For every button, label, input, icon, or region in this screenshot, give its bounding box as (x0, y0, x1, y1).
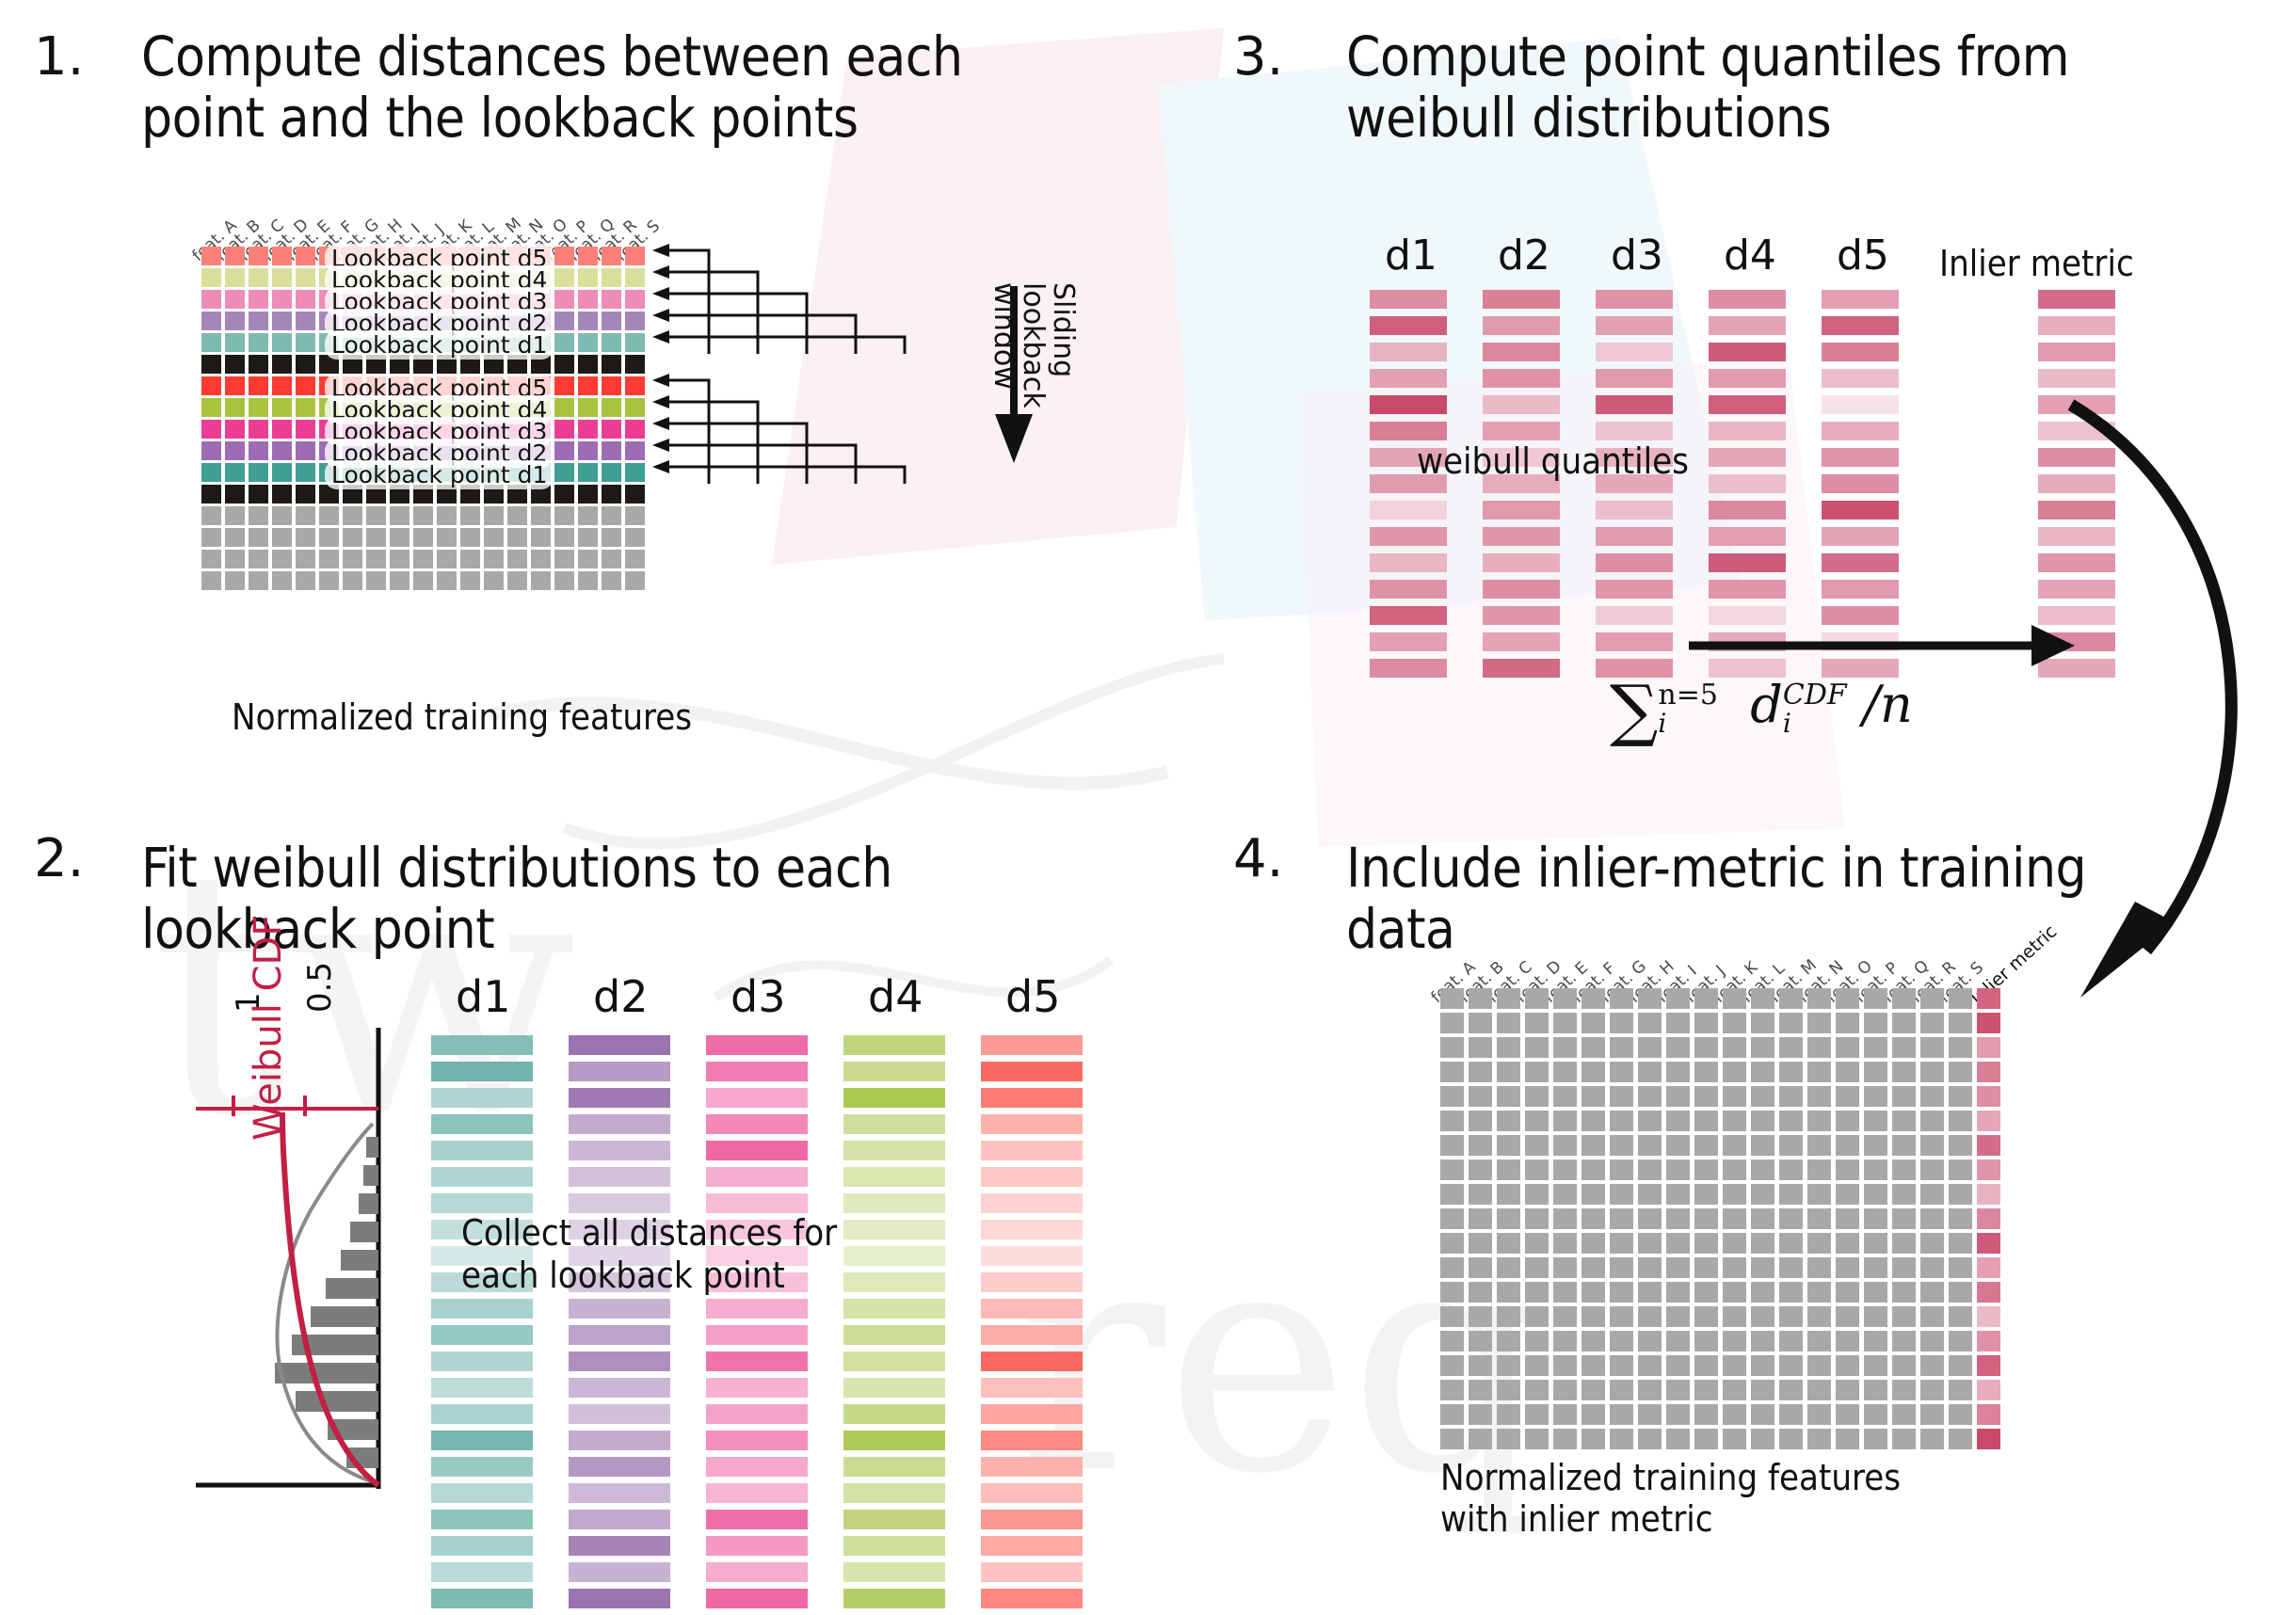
panel-2-overlay-text: Collect all distances foreach lookback p… (461, 1212, 951, 1297)
panel-2-distance-column (706, 1035, 808, 1615)
feature-cell (1723, 1282, 1746, 1303)
feature-cell (225, 506, 245, 525)
quantile-bar (1370, 290, 1447, 309)
distance-bar (981, 1088, 1083, 1108)
panel-2-distance-column (981, 1035, 1083, 1615)
distance-bar (431, 1510, 533, 1529)
quantile-bar (1370, 606, 1447, 625)
quantile-bar (1596, 316, 1673, 335)
feature-cell (1694, 1184, 1718, 1205)
feature-cell (625, 550, 645, 568)
feature-cell (1836, 1111, 1859, 1131)
feature-cell (1638, 1135, 1662, 1156)
feature-cell (578, 550, 598, 568)
distance-bar (569, 1378, 670, 1398)
distance-bar (569, 1351, 670, 1371)
feature-cell (1666, 1037, 1690, 1058)
feature-cell (1949, 1282, 1972, 1303)
feature-cell (1525, 1306, 1549, 1327)
feature-cell (296, 355, 315, 374)
feature-cell (1807, 1062, 1831, 1082)
feature-cell (437, 571, 457, 590)
feature-cell (390, 550, 409, 568)
feature-cell (1694, 1111, 1718, 1131)
feature-cell (1949, 1257, 1972, 1278)
distance-bar (431, 1114, 533, 1134)
feature-cell (1638, 1159, 1662, 1180)
feature-cell (1920, 1355, 1944, 1376)
feature-cell (1525, 1429, 1549, 1449)
feature-cell (1582, 1233, 1605, 1254)
feature-cell (1779, 1355, 1803, 1376)
feature-cell (1949, 1159, 1972, 1180)
distance-bar (706, 1457, 808, 1477)
weibull-cdf-chart: 1 0.5 Weibull CDF (179, 1026, 395, 1496)
quantile-bar (1596, 395, 1673, 414)
feature-cell (554, 398, 574, 417)
feature-cell (578, 463, 598, 482)
feature-cell (578, 290, 598, 309)
feature-cell (1469, 1331, 1492, 1351)
quantile-bar (1596, 422, 1673, 440)
distance-bar (431, 1431, 533, 1450)
distance-bar (843, 1062, 945, 1081)
feature-cell (1553, 1159, 1577, 1180)
distance-bar (981, 1431, 1083, 1450)
feature-cell (1582, 1306, 1605, 1327)
distance-bar (981, 1457, 1083, 1477)
feature-cell (578, 420, 598, 439)
quantile-bar (1822, 422, 1899, 440)
feature-cell (1497, 1257, 1520, 1278)
feature-cell (1892, 1429, 1916, 1449)
feature-cell (413, 528, 433, 547)
feature-cell (1666, 1062, 1690, 1082)
feature-cell (484, 506, 504, 525)
lookback-bracket-group (652, 241, 991, 368)
inlier-metric-bar (2038, 369, 2115, 388)
step-2-number: 2. (34, 828, 84, 889)
inlier-feedback-arrow (2024, 395, 2296, 1054)
feature-cell (1807, 1013, 1831, 1033)
feature-cell (249, 485, 268, 504)
quantile-bar (1483, 553, 1560, 572)
feature-cell (1666, 1086, 1690, 1107)
feature-cell (272, 355, 292, 374)
feature-cell (201, 398, 221, 417)
feature-cell (1920, 1380, 1944, 1400)
distance-bar (706, 1167, 808, 1187)
feature-cell (1694, 1380, 1718, 1400)
feature-cell (1723, 1013, 1746, 1033)
feature-cell (1920, 1086, 1944, 1107)
feature-cell (201, 355, 221, 374)
feature-cell (1864, 1380, 1887, 1400)
feature-cell (1807, 1404, 1831, 1425)
feature-cell (296, 420, 315, 439)
distance-bar (981, 1378, 1083, 1398)
feature-cell (625, 506, 645, 525)
feature-cell (554, 333, 574, 352)
feature-cell (1638, 1331, 1662, 1351)
feature-cell (249, 268, 268, 287)
quantile-column (1483, 290, 1560, 685)
feature-cell (578, 571, 598, 590)
feature-cell (1582, 1429, 1605, 1449)
panel-2-distance-column (843, 1035, 945, 1615)
feature-cell (1694, 1282, 1718, 1303)
feature-cell (1638, 1233, 1662, 1254)
quantile-column (1596, 290, 1673, 685)
feature-cell (1779, 1086, 1803, 1107)
quantile-bar (1483, 580, 1560, 599)
feature-cell (1469, 1355, 1492, 1376)
step-3-number: 3. (1233, 26, 1283, 88)
feature-cell (1779, 1159, 1803, 1180)
feature-cell (1440, 1282, 1464, 1303)
inlier-metric-cell (1977, 988, 2000, 1009)
distance-bar (981, 1536, 1083, 1556)
feature-cell (1638, 1037, 1662, 1058)
feature-cell (1440, 1184, 1464, 1205)
feature-cell (1638, 1404, 1662, 1425)
feature-cell (296, 485, 315, 504)
quantile-bar (1483, 316, 1560, 335)
feature-cell (1553, 1233, 1577, 1254)
feature-cell (1807, 1208, 1831, 1229)
feature-cell (1440, 1331, 1464, 1351)
quantile-bar (1822, 580, 1899, 599)
distance-bar (431, 1062, 533, 1081)
feature-cell (1779, 988, 1803, 1009)
distance-bar (981, 1114, 1083, 1134)
feature-cell (625, 312, 645, 330)
quantile-bar (1596, 553, 1673, 572)
feature-cell (225, 290, 245, 309)
feature-cell (1469, 1037, 1492, 1058)
feature-cell (1864, 1062, 1887, 1082)
feature-cell (1582, 1208, 1605, 1229)
feature-cell (1440, 988, 1464, 1009)
feature-cell (625, 463, 645, 482)
feature-cell (507, 506, 527, 525)
feature-cell (1723, 1257, 1746, 1278)
feature-cell (1751, 988, 1774, 1009)
inlier-metric-cell (1977, 1111, 2000, 1131)
feature-cell (1582, 1184, 1605, 1205)
feature-cell (225, 420, 245, 439)
feature-cell (1751, 1355, 1774, 1376)
panel-2-distance-column (431, 1035, 533, 1615)
feature-cell (201, 268, 221, 287)
feature-cell (1723, 1037, 1746, 1058)
distance-bar (981, 1062, 1083, 1081)
distance-bar (431, 1351, 533, 1371)
feature-cell (1779, 1013, 1803, 1033)
feature-cell (1440, 1355, 1464, 1376)
distance-bar (706, 1035, 808, 1055)
feature-cell (1751, 1184, 1774, 1205)
feature-cell (390, 571, 409, 590)
quantile-bar (1370, 553, 1447, 572)
feature-cell (225, 312, 245, 330)
feature-cell (343, 550, 362, 568)
feature-cell (1864, 1306, 1887, 1327)
feature-cell (1497, 1233, 1520, 1254)
feature-cell (1920, 1184, 1944, 1205)
distance-bar (843, 1141, 945, 1160)
feature-cell (1949, 1208, 1972, 1229)
distance-bar (569, 1562, 670, 1582)
feature-cell (1582, 1380, 1605, 1400)
feature-cell (366, 528, 386, 547)
feature-cell (1723, 1404, 1746, 1425)
feature-cell (249, 528, 268, 547)
feature-cell (343, 571, 362, 590)
quantile-bar (1370, 316, 1447, 335)
feature-cell (1779, 1331, 1803, 1351)
feature-cell (225, 398, 245, 417)
feature-cell (1892, 1306, 1916, 1327)
feature-cell (1949, 1135, 1972, 1156)
feature-cell (1723, 1306, 1746, 1327)
feature-cell (225, 550, 245, 568)
inlier-metric-cell (1977, 1257, 2000, 1278)
distance-bar (431, 1536, 533, 1556)
distance-bar (706, 1351, 808, 1371)
feature-cell (225, 247, 245, 265)
feature-cell (437, 550, 457, 568)
feature-cell (225, 441, 245, 460)
feature-cell (272, 268, 292, 287)
quantile-bar (1370, 580, 1447, 599)
feature-cell (296, 571, 315, 590)
quantile-bar (1709, 580, 1786, 599)
feature-cell (1949, 1037, 1972, 1058)
feature-cell (1723, 1233, 1746, 1254)
quantile-bar (1370, 343, 1447, 361)
feature-cell (201, 506, 221, 525)
feature-cell (1949, 1111, 1972, 1131)
feature-cell (1949, 1233, 1972, 1254)
quantile-bar (1596, 527, 1673, 546)
feature-cell (1723, 1111, 1746, 1131)
feature-cell (1553, 1135, 1577, 1156)
feature-cell (578, 333, 598, 352)
feature-cell (1723, 1429, 1746, 1449)
feature-cell (296, 506, 315, 525)
quantile-bar (1370, 422, 1447, 440)
distance-bar (431, 1457, 533, 1477)
quantile-bar (1709, 448, 1786, 467)
feature-cell (1949, 1355, 1972, 1376)
feature-cell (1638, 1086, 1662, 1107)
feature-cell (1497, 1429, 1520, 1449)
quantile-bar (1709, 290, 1786, 309)
quantile-bar (1483, 395, 1560, 414)
quantile-column (1370, 290, 1447, 685)
distance-bar (981, 1404, 1083, 1424)
feature-cell (1666, 1282, 1690, 1303)
feature-cell (1610, 1159, 1633, 1180)
feature-cell (1836, 1331, 1859, 1351)
panel-3-column-label-d5: d5 (1837, 232, 1889, 280)
quantile-bar (1822, 290, 1899, 309)
distance-bar (431, 1141, 533, 1160)
feature-cell (1497, 1062, 1520, 1082)
feature-cell (1779, 1282, 1803, 1303)
quantile-bar (1370, 501, 1447, 520)
feature-cell (1525, 1062, 1549, 1082)
distance-bar (706, 1562, 808, 1582)
feature-cell (1920, 1233, 1944, 1254)
feature-cell (201, 485, 221, 504)
feature-cell (1892, 988, 1916, 1009)
feature-cell (296, 550, 315, 568)
feature-cell (1525, 988, 1549, 1009)
feature-cell (1582, 1111, 1605, 1131)
distance-bar (431, 1088, 533, 1108)
panel-3-column-label-d3: d3 (1611, 232, 1663, 280)
feature-cell (1723, 1208, 1746, 1229)
feature-cell (1638, 1257, 1662, 1278)
lookback-bracket-group (652, 371, 991, 498)
feature-cell (1779, 1208, 1803, 1229)
feature-cell (296, 463, 315, 482)
feature-cell (578, 268, 598, 287)
feature-cell (225, 268, 245, 287)
feature-cell (1949, 1184, 1972, 1205)
feature-cell (1440, 1306, 1464, 1327)
feature-cell (1807, 1355, 1831, 1376)
feature-cell (1751, 1380, 1774, 1400)
feature-cell (1553, 1062, 1577, 1082)
feature-cell (1610, 988, 1633, 1009)
distance-bar (843, 1536, 945, 1556)
distance-bar (981, 1167, 1083, 1187)
feature-cell (1807, 1233, 1831, 1254)
distance-bar (431, 1562, 533, 1582)
feature-cell (1836, 1037, 1859, 1058)
feature-cell (578, 247, 598, 265)
feature-cell (1723, 1380, 1746, 1400)
feature-cell (1779, 1062, 1803, 1082)
feature-cell (1497, 1306, 1520, 1327)
distance-bar (431, 1167, 533, 1187)
feature-cell (1610, 1135, 1633, 1156)
lookback-point-label: Lookback point d1 (325, 330, 554, 360)
weibull-cdf-axis-label: Weibull CDF (247, 915, 290, 1141)
distance-bar (569, 1325, 670, 1345)
feature-cell (1525, 1086, 1549, 1107)
feature-cell (249, 247, 268, 265)
feature-cell (1949, 988, 1972, 1009)
feature-cell (1807, 1135, 1831, 1156)
feature-cell (1497, 1037, 1520, 1058)
distance-bar (569, 1114, 670, 1134)
distance-bar (843, 1562, 945, 1582)
distance-bar (706, 1589, 808, 1608)
feature-cell (1440, 1086, 1464, 1107)
feature-cell (554, 420, 574, 439)
feature-cell (296, 312, 315, 330)
feature-cell (366, 506, 386, 525)
feature-cell (1497, 1159, 1520, 1180)
feature-cell (1751, 1037, 1774, 1058)
inlier-metric-cell (1977, 1429, 2000, 1449)
inlier-metric-cell (1977, 1184, 2000, 1205)
panel-3-column-label-d1: d1 (1385, 232, 1437, 280)
feature-cell (1864, 1282, 1887, 1303)
distance-bar (843, 1167, 945, 1187)
quantile-bar (1596, 343, 1673, 361)
feature-cell (1469, 1013, 1492, 1033)
feature-cell (1553, 1404, 1577, 1425)
panel-2-column-label-d2: d2 (593, 971, 648, 1022)
feature-cell (1497, 1404, 1520, 1425)
feature-cell (1610, 1111, 1633, 1131)
inlier-metric-cell (1977, 1086, 2000, 1107)
feature-cell (1864, 988, 1887, 1009)
feature-cell (1807, 1086, 1831, 1107)
feature-cell (1751, 1233, 1774, 1254)
quantile-bar (1822, 553, 1899, 572)
sliding-window-arrow (993, 282, 1059, 471)
distance-bar (843, 1404, 945, 1424)
quantile-bar (1483, 422, 1560, 440)
distance-bar (569, 1141, 670, 1160)
feature-cell (1949, 1013, 1972, 1033)
feature-cell (1694, 1159, 1718, 1180)
distance-bar (431, 1589, 533, 1608)
feature-cell (625, 355, 645, 374)
distance-bar (843, 1299, 945, 1319)
distance-bar (843, 1325, 945, 1345)
feature-cell (1610, 1331, 1633, 1351)
feature-cell (249, 571, 268, 590)
feature-cell (625, 247, 645, 265)
quantile-bar (1822, 501, 1899, 520)
feature-cell (1949, 1404, 1972, 1425)
feature-cell (554, 528, 574, 547)
feature-cell (1723, 1184, 1746, 1205)
feature-cell (1892, 1111, 1916, 1131)
inlier-metric-bar (2038, 290, 2115, 309)
feature-cell (1836, 1135, 1859, 1156)
feature-cell (1694, 1062, 1718, 1082)
feature-cell (625, 333, 645, 352)
distance-bar (981, 1589, 1083, 1608)
feature-cell (1638, 1282, 1662, 1303)
distance-bar (569, 1536, 670, 1556)
feature-cell (272, 312, 292, 330)
feature-cell (602, 333, 621, 352)
distance-bar (843, 1483, 945, 1503)
distance-bar (981, 1299, 1083, 1319)
feature-cell (578, 376, 598, 395)
feature-cell (1497, 1282, 1520, 1303)
feature-cell (1638, 1062, 1662, 1082)
feature-cell (249, 506, 268, 525)
feature-cell (1497, 1208, 1520, 1229)
feature-cell (343, 506, 362, 525)
feature-cell (1694, 1331, 1718, 1351)
distance-bar (706, 1299, 808, 1319)
feature-cell (1666, 1257, 1690, 1278)
feature-cell (1892, 1331, 1916, 1351)
feature-cell (1666, 988, 1690, 1009)
distance-bar (706, 1114, 808, 1134)
